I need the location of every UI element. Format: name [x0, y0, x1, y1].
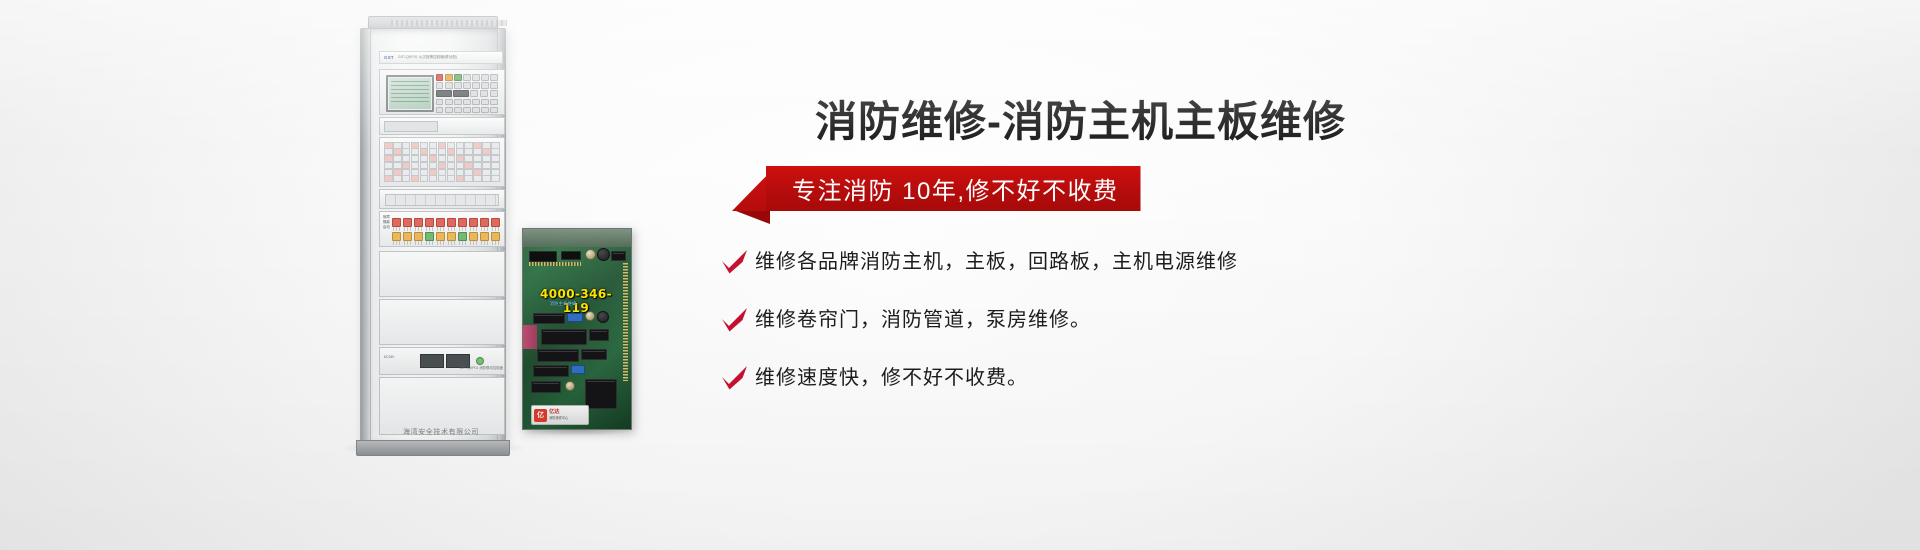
- led-alarm: [425, 218, 434, 227]
- feature-bullet-list: 维修各品牌消防主机，主板，回路板，主机电源维修 维修卷帘门，消防管道，泵房维修。…: [715, 240, 1475, 414]
- terminal-strip: [385, 194, 499, 206]
- key-generic[interactable]: [490, 99, 497, 106]
- cabinet-base: [356, 440, 510, 456]
- key-generic[interactable]: [481, 74, 488, 81]
- page-title: 消防维修-消防主机主板维修: [815, 96, 1346, 148]
- cabinet-bottom-brand: 海湾安全技术有限公司: [369, 427, 513, 437]
- list-item: 维修卷帘门，消防管道，泵房维修。: [715, 298, 1475, 342]
- loop-indicator: [464, 175, 473, 182]
- power-supply-panel: DC24V: [379, 347, 505, 375]
- pcb-capacitor: [565, 381, 575, 391]
- key-generic[interactable]: [454, 82, 461, 89]
- cabinet-model-footer: GST-QKP01 消防联动控制盘: [379, 365, 505, 370]
- repair-company-logo-badge: 亿 亿达 消防维修中心: [531, 405, 589, 425]
- printer-paper-slot: [384, 121, 438, 132]
- loop-indicator: [402, 175, 411, 182]
- led-fault: [480, 232, 489, 241]
- led-fault: [403, 232, 412, 241]
- key-generic[interactable]: [481, 107, 488, 114]
- cabinet-brand-model-text: GST-QKP01 火灾报警控制器(联动型): [398, 55, 457, 60]
- pcb-capacitor: [585, 249, 596, 260]
- key-generic[interactable]: [436, 107, 443, 114]
- company-logo-text: 亿达 消防维修中心: [549, 410, 568, 419]
- lcd-text-lines: [391, 81, 429, 103]
- pcb-capacitor: [585, 311, 595, 321]
- cabinet-vents: [391, 20, 507, 26]
- company-name: 亿达: [549, 410, 568, 415]
- pcb-photo-top-edge: [523, 229, 631, 247]
- cabinet-body: GST GST-QKP01 火灾报警控制器(联动型): [360, 28, 506, 442]
- pcb-chip: [533, 313, 565, 324]
- key-alarm[interactable]: [436, 74, 443, 81]
- led-alarm: [403, 218, 412, 227]
- loop-card-grid: [379, 137, 505, 187]
- key-generic[interactable]: [445, 82, 452, 89]
- led-row-top: [392, 218, 500, 227]
- key-generic[interactable]: [472, 99, 479, 106]
- led-alarm: [447, 218, 456, 227]
- promo-banner: GST GST-QKP01 火灾报警控制器(联动型): [0, 0, 1920, 550]
- key-fault[interactable]: [445, 74, 452, 81]
- list-item-label: 维修各品牌消防主机，主板，回路板，主机电源维修: [755, 247, 1238, 277]
- ribbon-body: 专注消防 10年,修不好不收费: [766, 166, 1141, 211]
- key-generic[interactable]: [445, 107, 452, 114]
- pcb-chip: [537, 349, 579, 362]
- led-normal: [458, 232, 467, 241]
- key-enter[interactable]: [453, 90, 469, 97]
- key-generic[interactable]: [480, 90, 488, 97]
- keypad-row: [436, 74, 498, 81]
- terminal-strip-slot: [379, 189, 505, 209]
- key-generic[interactable]: [454, 99, 461, 106]
- led-fault: [414, 232, 423, 241]
- fire-alarm-control-cabinet: GST GST-QKP01 火灾报警控制器(联动型): [352, 16, 512, 456]
- operator-panel: [379, 69, 505, 115]
- keypad-row: [436, 99, 498, 106]
- company-subtitle: 消防维修中心: [549, 417, 568, 420]
- loop-indicator: [420, 175, 429, 182]
- pcb-microcontroller: [541, 329, 587, 345]
- key-normal[interactable]: [454, 74, 461, 81]
- list-item-label: 维修卷帘门，消防管道，泵房维修。: [755, 305, 1091, 335]
- pcb-dip-switch: [567, 313, 583, 322]
- loop-indicator: [491, 175, 500, 182]
- loop-indicator: [438, 175, 447, 182]
- pcb-ribbon-cable: [523, 325, 537, 349]
- check-icon: [715, 365, 755, 391]
- pcb-pin-header: [529, 262, 581, 266]
- led-alarm: [458, 218, 467, 227]
- key-generic[interactable]: [490, 82, 497, 89]
- led-alarm: [480, 218, 489, 227]
- loop-card-row: [384, 162, 500, 168]
- led-alarm: [469, 218, 478, 227]
- company-logo-mark: 亿: [534, 409, 547, 422]
- pcb-connector: [561, 251, 581, 260]
- keypad-row: [436, 82, 498, 89]
- loop-card-row: [384, 169, 500, 175]
- led-block-label: 故障隔离启动: [383, 215, 390, 230]
- loop-card-row: [384, 142, 500, 148]
- blank-filler-panel: [379, 299, 505, 345]
- led-annunciator-block: 故障隔离启动: [379, 211, 505, 247]
- ribbon-label: 专注消防 10年,修不好不收费: [792, 171, 1119, 206]
- circuit-board-photo: 4000-346-119 消防主机维修 亿 亿达 消防维修中心: [522, 228, 632, 430]
- list-item-label: 维修速度快，修不好不收费。: [755, 363, 1028, 393]
- key-generic[interactable]: [472, 74, 479, 81]
- key-menu[interactable]: [436, 90, 452, 97]
- check-icon: [715, 307, 755, 333]
- keypad: [436, 74, 498, 110]
- pcb-pin-header: [623, 263, 628, 381]
- led-fault: [491, 232, 500, 241]
- key-generic[interactable]: [481, 82, 488, 89]
- led-normal: [425, 232, 434, 241]
- key-generic[interactable]: [436, 99, 443, 106]
- key-generic[interactable]: [454, 107, 461, 114]
- loop-indicator: [482, 175, 491, 182]
- key-generic[interactable]: [490, 74, 497, 81]
- loop-indicator: [393, 175, 402, 182]
- key-generic[interactable]: [472, 107, 479, 114]
- psu-power-led: [476, 357, 484, 365]
- list-item: 维修各品牌消防主机，主板，回路板，主机电源维修: [715, 240, 1475, 284]
- lcd-display: [386, 75, 434, 112]
- banner-content: 消防维修-消防主机主板维修 专注消防 10年,修不好不收费 维修各品牌消防主机，…: [660, 0, 1860, 550]
- loop-indicator: [456, 175, 465, 182]
- ribbon-fold-shadow: [736, 211, 770, 224]
- key-generic[interactable]: [463, 82, 470, 89]
- keypad-row: [436, 107, 498, 114]
- pcb-dip-switch: [571, 365, 585, 374]
- loop-indicator: [473, 175, 482, 182]
- key-generic[interactable]: [463, 99, 470, 106]
- key-generic[interactable]: [472, 82, 479, 89]
- cabinet-brand-strip: GST GST-QKP01 火灾报警控制器(联动型): [379, 51, 503, 64]
- loop-indicator: [384, 175, 393, 182]
- pcb-chip: [589, 329, 609, 341]
- cabinet-brand-logo: GST: [384, 55, 394, 60]
- led-fault: [436, 232, 445, 241]
- keypad-row: [436, 90, 498, 97]
- pcb-chip: [533, 365, 569, 377]
- blank-filler-panel: [379, 251, 505, 297]
- loop-card-row: [384, 149, 500, 155]
- pcb-chip: [611, 251, 626, 261]
- led-alarm: [491, 218, 500, 227]
- pcb-chip: [581, 349, 607, 360]
- key-generic[interactable]: [490, 90, 498, 97]
- loop-indicator: [411, 175, 420, 182]
- key-generic[interactable]: [436, 82, 443, 89]
- pcb-connector: [529, 251, 557, 262]
- loop-card-rows: [384, 142, 500, 182]
- loop-indicator: [429, 175, 438, 182]
- loop-card-row: [384, 176, 500, 182]
- key-generic[interactable]: [481, 99, 488, 106]
- list-item: 维修速度快，修不好不收费。: [715, 356, 1475, 400]
- key-generic[interactable]: [463, 74, 470, 81]
- key-generic[interactable]: [470, 90, 478, 97]
- led-fault: [392, 232, 401, 241]
- loop-indicator: [447, 175, 456, 182]
- loop-card-row: [384, 156, 500, 162]
- pcb-service-tag: 消防主机维修: [531, 301, 595, 307]
- led-row-bottom: [392, 232, 500, 241]
- key-generic[interactable]: [490, 107, 497, 114]
- key-generic[interactable]: [445, 99, 452, 106]
- cabinet-left-edge: [361, 29, 371, 441]
- led-alarm: [392, 218, 401, 227]
- led-alarm: [414, 218, 423, 227]
- pcb-capacitor: [597, 311, 609, 323]
- psu-caption: DC24V: [384, 355, 394, 359]
- led-fault: [469, 232, 478, 241]
- led-fault: [447, 232, 456, 241]
- printer-slot: [379, 117, 505, 135]
- check-icon: [715, 249, 755, 275]
- pcb-chip: [531, 381, 561, 393]
- led-alarm: [436, 218, 445, 227]
- pcb-capacitor: [597, 248, 610, 261]
- key-generic[interactable]: [463, 107, 470, 114]
- pcb-eprom: [585, 379, 617, 409]
